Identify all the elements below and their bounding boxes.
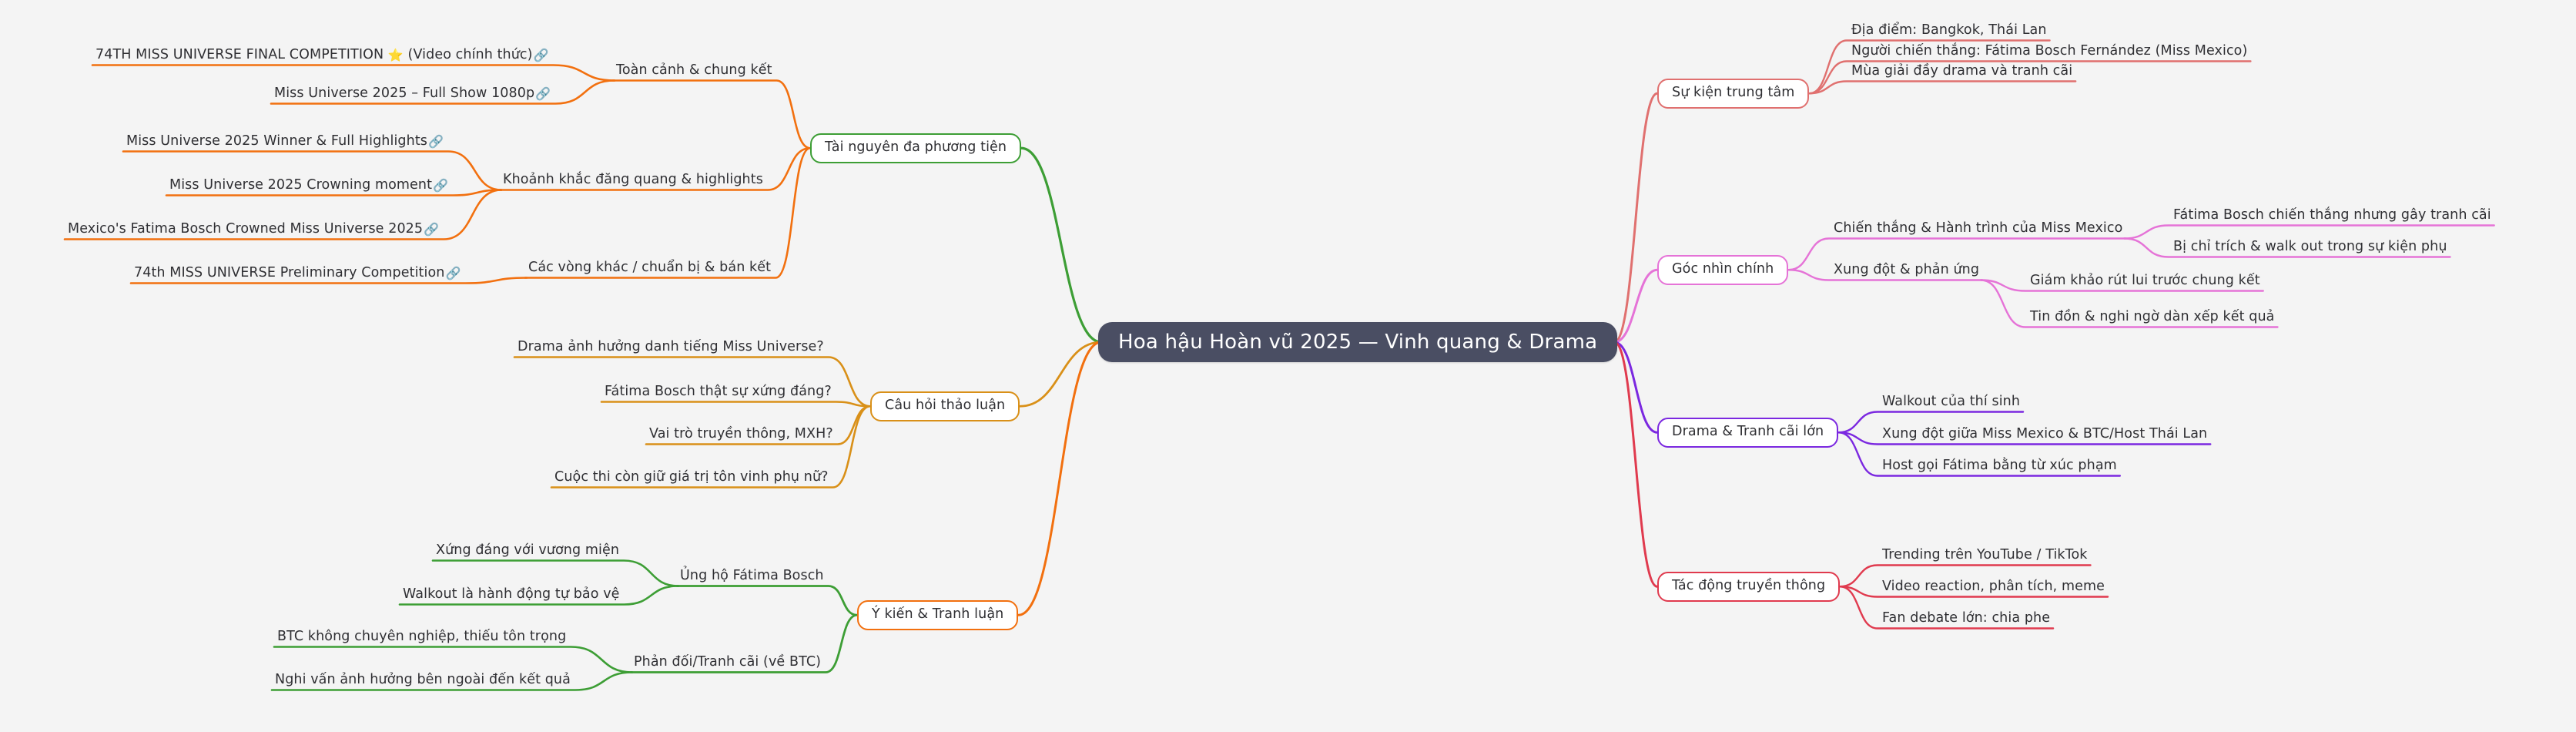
link-icon[interactable]: 🔗 [424,222,439,237]
leaf-item-trending[interactable]: Trending trên YouTube / TikTok [1882,549,2088,562]
subbranch-label-crowning-highlights[interactable]: Khoảnh khắc đăng quang & highlights [503,173,763,187]
connector-lines [0,0,2576,732]
star-icon: ⭐ [388,48,404,62]
leaf-item-reaction-videos[interactable]: Video reaction, phân tích, meme [1882,580,2105,594]
subbranch-label-other-rounds[interactable]: Các vòng khác / chuẩn bị & bán kết [528,261,771,275]
branch-node-main-perspectives[interactable]: Góc nhìn chính [1657,255,1788,285]
leaf-item-fan-debate[interactable]: Fan debate lớn: chia phe [1882,612,2050,626]
leaf-item-walkout-selfdefense[interactable]: Walkout là hành động tự bảo vệ [403,588,620,602]
leaf-text: 74TH MISS UNIVERSE FINAL COMPETITION ⭐ (… [95,47,533,62]
leaf-item-winner-highlights[interactable]: Miss Universe 2025 Winner & Full Highlig… [126,135,444,149]
leaf-item-venue[interactable]: Địa điểm: Bangkok, Thái Lan [1851,24,2047,38]
leaf-item-judge-resigned[interactable]: Giám khảo rút lui trước chung kết [2030,274,2260,288]
leaf-item-host-insult[interactable]: Host gọi Fátima bằng từ xúc phạm [1882,459,2117,473]
leaf-item-pageant-value[interactable]: Cuộc thi còn giữ giá trị tôn vinh phụ nữ… [554,471,829,485]
leaf-item-media-role[interactable]: Vai trò truyền thông, MXH? [649,428,833,442]
leaf-text: 74th MISS UNIVERSE Preliminary Competiti… [134,265,444,280]
leaf-item-external-influence[interactable]: Nghi vấn ảnh hưởng bên ngoài đến kết quả [275,673,571,687]
mindmap-canvas: Hoa hậu Hoàn vũ 2025 — Vinh quang & Dram… [0,0,2576,732]
leaf-item-winner[interactable]: Người chiến thắng: Fátima Bosch Fernánde… [1851,45,2247,59]
leaf-text: Miss Universe 2025 – Full Show 1080p [274,86,534,101]
link-icon[interactable]: 🔗 [428,134,444,149]
subbranch-label-conflict-reaction[interactable]: Xung đột & phản ứng [1834,264,1979,277]
leaf-item-rumor-rigged[interactable]: Tin đồn & nghi ngờ dàn xếp kết quả [2030,311,2274,324]
leaf-text: Miss Universe 2025 Crowning moment [169,177,432,193]
leaf-item-deserves-crown[interactable]: Xứng đáng với vương miện [436,544,619,558]
link-icon[interactable]: 🔗 [535,86,551,101]
branch-node-multimedia[interactable]: Tài nguyên đa phương tiện [810,133,1021,163]
leaf-item-contestant-walkout[interactable]: Walkout của thí sinh [1882,395,2020,409]
leaf-item-fatima-crowned[interactable]: Mexico's Fatima Bosch Crowned Miss Unive… [68,223,439,237]
leaf-text: Miss Universe 2025 Winner & Full Highlig… [126,133,427,149]
branch-node-major-drama[interactable]: Drama & Tranh cãi lớn [1657,418,1838,448]
leaf-item-full-show[interactable]: Miss Universe 2025 – Full Show 1080p🔗 [274,87,551,101]
link-icon[interactable]: 🔗 [445,266,461,280]
link-icon[interactable]: 🔗 [433,178,448,193]
leaf-item-drama-reputation[interactable]: Drama ảnh hưởng danh tiếng Miss Universe… [518,341,824,354]
root-node[interactable]: Hoa hậu Hoàn vũ 2025 — Vinh quang & Dram… [1098,322,1617,362]
leaf-item-win-but-controversy[interactable]: Fátima Bosch chiến thắng nhưng gây tranh… [2173,209,2491,223]
leaf-item-mexico-vs-host[interactable]: Xung đột giữa Miss Mexico & BTC/Host Thá… [1882,428,2207,442]
subbranch-label-support-fatima[interactable]: Ủng hộ Fátima Bosch [680,569,824,583]
leaf-item-preliminary-competition[interactable]: 74th MISS UNIVERSE Preliminary Competiti… [134,267,461,280]
branch-node-central-event[interactable]: Sự kiện trung tâm [1657,79,1809,109]
leaf-item-drama-season[interactable]: Mùa giải đầy drama và tranh cãi [1851,65,2072,79]
branch-node-discussion-questions[interactable]: Câu hỏi thảo luận [870,391,1020,421]
link-icon[interactable]: 🔗 [534,48,549,62]
leaf-text-real: Mexico's Fatima Bosch Crowned Miss Unive… [68,221,423,237]
leaf-item-crowning-moment[interactable]: Miss Universe 2025 Crowning moment🔗 [169,179,448,193]
leaf-item-criticized-walkout[interactable]: Bị chỉ trích & walk out trong sự kiện ph… [2173,240,2447,254]
leaf-item-btc-unprofessional[interactable]: BTC không chuyên nghiệp, thiếu tôn trọng [277,630,566,644]
subbranch-label-victory-journey[interactable]: Chiến thắng & Hành trình của Miss Mexico [1834,222,2122,236]
subbranch-label-overview-final[interactable]: Toàn cảnh & chung kết [616,64,772,78]
leaf-item-final-competition[interactable]: 74TH MISS UNIVERSE FINAL COMPETITION ⭐ (… [95,49,549,62]
branch-node-opinions-debate[interactable]: Ý kiến & Tranh luận [857,600,1018,630]
subbranch-label-against-btc[interactable]: Phản đối/Tranh cãi (về BTC) [634,656,821,670]
leaf-item-fatima-deserving[interactable]: Fátima Bosch thật sự xứng đáng? [605,385,832,399]
branch-node-media-impact[interactable]: Tác động truyền thông [1657,572,1840,602]
